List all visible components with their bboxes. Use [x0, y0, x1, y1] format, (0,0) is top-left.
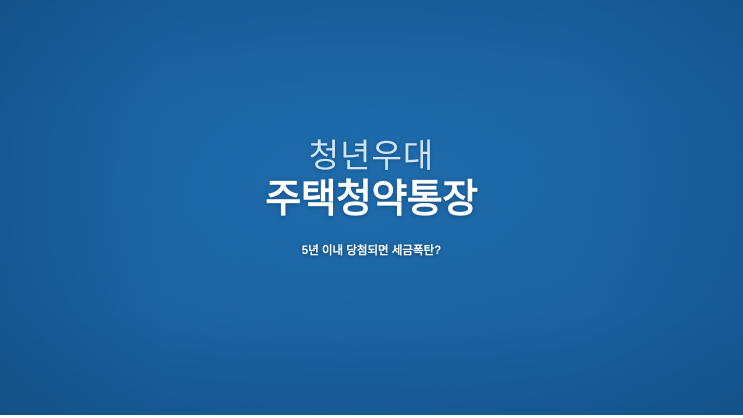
banner-title: 주택청약통장 [0, 177, 743, 224]
promo-banner: 청약종합저축통장 (청약저축통장 겸용) NH농협은행 국토교통부 청약저축 청… [0, 0, 743, 418]
banner-subtitle: 5년 이내 당첨되면 세금폭탄? [0, 242, 743, 258]
headline-block: 청년우대 주택청약통장 5년 이내 당첨되면 세금폭탄? [0, 138, 743, 258]
banner-eyebrow: 청년우대 [0, 138, 743, 175]
